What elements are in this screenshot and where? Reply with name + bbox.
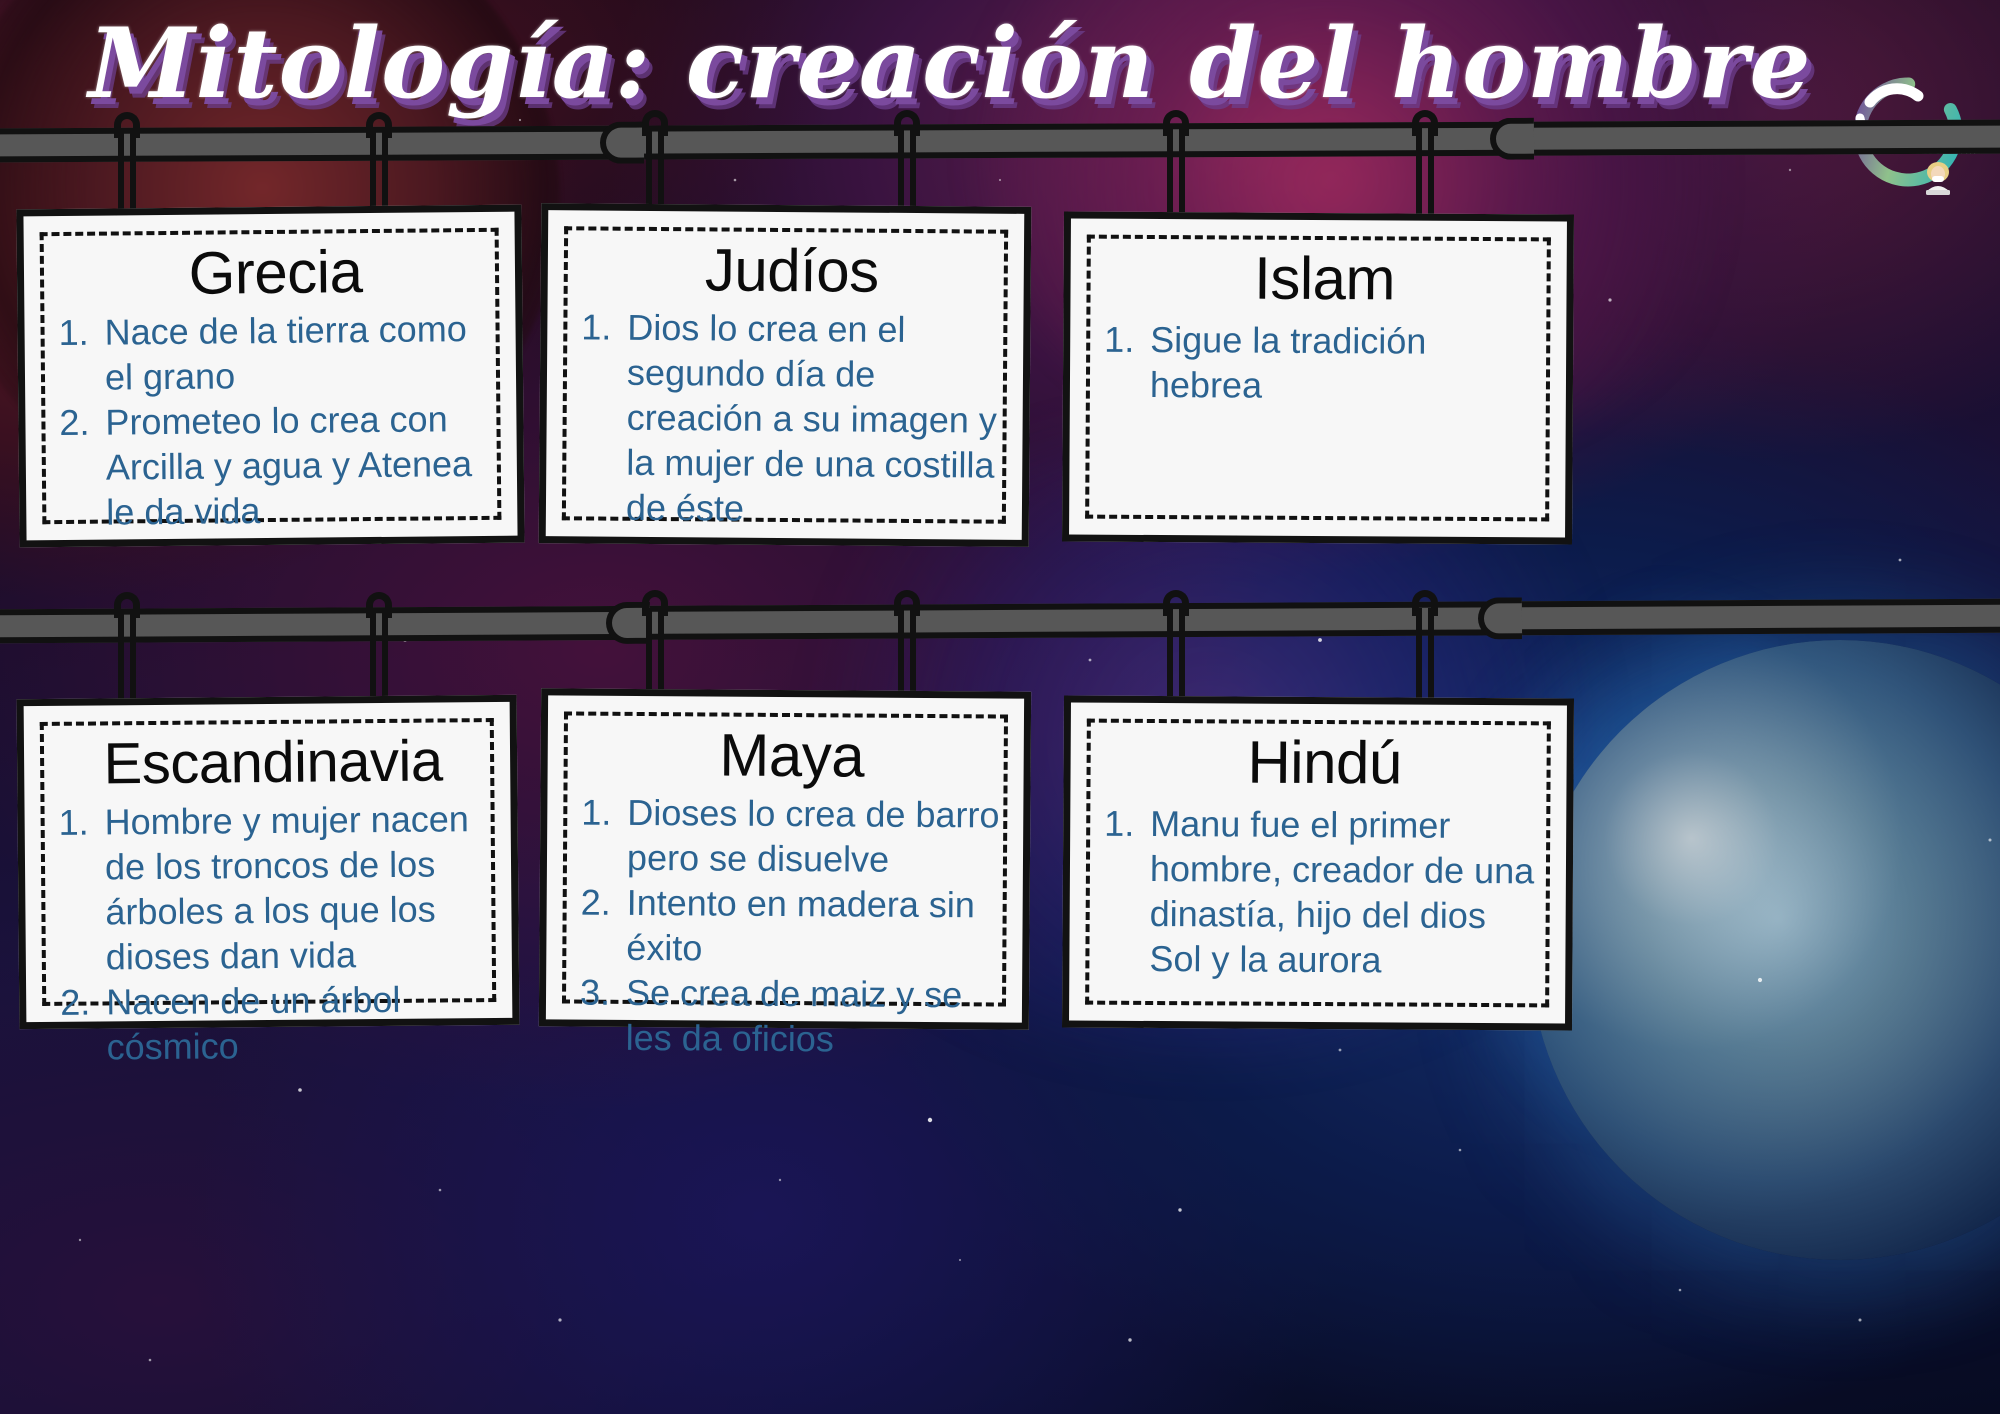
list-item: Nace de la tierra como el grano — [58, 306, 494, 400]
card-judios[interactable]: Judíos Dios lo crea en el segundo día de… — [539, 203, 1032, 547]
card-list-grecia: Nace de la tierra como el grano Prometeo… — [58, 306, 495, 535]
card-title-maya: Maya — [581, 722, 1001, 791]
card-list-maya: Dioses lo crea de barro pero se disuelve… — [580, 790, 1002, 1063]
card-maya[interactable]: Maya Dioses lo crea de barro pero se dis… — [539, 688, 1031, 1029]
card-title-escandinavia: Escandinavia — [58, 728, 489, 798]
list-item: Manu fue el primer hombre, creador de un… — [1103, 801, 1544, 984]
list-item: Dioses lo crea de barro pero se disuelve — [581, 790, 1002, 883]
list-item: Prometeo lo crea con Arcilla y agua y At… — [59, 396, 495, 535]
list-item: Se crea de maiz y se les da oficios — [580, 970, 1001, 1063]
card-title-judios: Judíos — [582, 236, 1003, 305]
card-grecia[interactable]: Grecia Nace de la tierra como el grano P… — [16, 205, 524, 548]
infographic-canvas: Mitología: creación del hombre MFMC GEOH… — [0, 0, 2000, 1414]
list-item: Nacen de un árbol cósmico — [60, 976, 491, 1070]
list-item: Hombre y mujer nacen de los troncos de l… — [58, 796, 490, 980]
page-title: Mitología: creación del hombre — [0, 4, 1900, 124]
card-escandinavia[interactable]: Escandinavia Hombre y mujer nacen de los… — [17, 695, 520, 1029]
list-item: Intento en madera sin éxito — [580, 880, 1001, 973]
card-hindu[interactable]: Hindú Manu fue el primer hombre, creador… — [1062, 695, 1574, 1030]
list-item: Dios lo crea en el segundo día de creaci… — [580, 304, 1002, 532]
card-list-islam: Sigue la tradición hebrea — [1104, 317, 1545, 410]
list-item: Sigue la tradición hebrea — [1104, 317, 1545, 410]
card-title-hindu: Hindú — [1104, 729, 1544, 798]
card-list-judios: Dios lo crea en el segundo día de creaci… — [580, 304, 1002, 532]
card-islam[interactable]: Islam Sigue la tradición hebrea — [1062, 211, 1574, 544]
card-title-islam: Islam — [1104, 245, 1544, 314]
card-title-grecia: Grecia — [58, 238, 494, 308]
card-list-hindu: Manu fue el primer hombre, creador de un… — [1103, 801, 1544, 984]
card-list-escandinavia: Hombre y mujer nacen de los troncos de l… — [58, 796, 490, 1070]
